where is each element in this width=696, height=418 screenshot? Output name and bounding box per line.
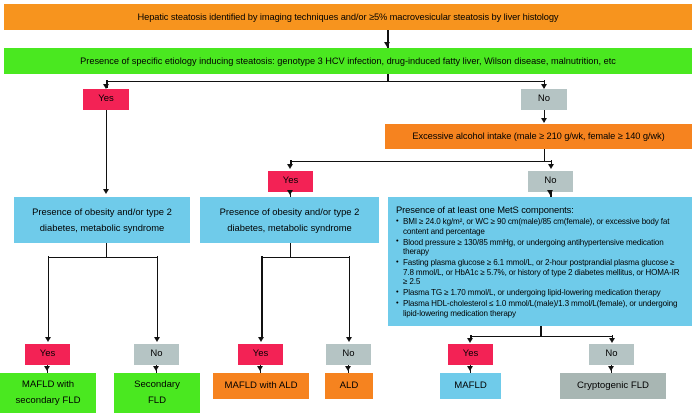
connector-line (106, 81, 544, 83)
node-label: Hepatic steatosis identified by imaging … (138, 12, 559, 23)
node-label-line1: Presence of obesity and/or type 2 (220, 204, 360, 220)
node-label: Excessive alcohol intake (male ≥ 210 g/w… (412, 131, 664, 142)
outcome-mafld: MAFLD (440, 373, 501, 399)
outcome-ald: ALD (325, 373, 373, 399)
connector-arrow (345, 366, 351, 371)
connector-line (290, 161, 552, 163)
decision-yes-obesity-left[interactable]: Yes (25, 344, 70, 365)
connector-arrow (547, 190, 553, 195)
outcome-label-line1: MAFLD with (22, 377, 74, 393)
decision-label: No (544, 176, 556, 187)
node-label-line1: Presence of obesity and/or type 2 (32, 204, 172, 220)
decision-label: Yes (283, 176, 299, 187)
node-obesity-criteria-mid: Presence of obesity and/or type 2 diabet… (200, 197, 379, 243)
mets-criteria-list: BMI ≥ 24.0 kg/m², or WC ≥ 90 cm(male)/85… (395, 217, 685, 318)
connector-arrow (467, 338, 473, 343)
outcome-label-line2: secondary FLD (15, 393, 80, 409)
connector-arrow (287, 164, 293, 169)
decision-no-etiology[interactable]: No (521, 89, 567, 110)
connector-arrow (548, 164, 554, 169)
decision-label: No (342, 349, 354, 360)
connector-arrow (45, 337, 51, 342)
decision-label: Yes (253, 349, 269, 360)
connector-arrow (153, 366, 159, 371)
node-label-line2: diabetes, metabolic syndrome (40, 220, 165, 236)
decision-label: Yes (463, 349, 479, 360)
connector-arrow (384, 42, 390, 47)
mets-criterion: Blood pressure ≥ 130/85 mmHg, or undergo… (395, 238, 685, 257)
decision-label: No (150, 349, 162, 360)
decision-yes-alcohol[interactable]: Yes (268, 171, 313, 192)
connector-line (106, 243, 108, 257)
outcome-cryptogenic-fld: Cryptogenic FLD (560, 373, 666, 399)
outcome-label-line1: MAFLD (454, 378, 487, 394)
decision-label: No (605, 349, 617, 360)
outcome-label-line1: MAFLD with ALD (224, 378, 297, 394)
connector-arrow (608, 366, 614, 371)
connector-line (290, 243, 292, 257)
decision-yes-obesity-mid[interactable]: Yes (238, 344, 283, 365)
connector-arrow (346, 337, 352, 342)
decision-yes-etiology[interactable]: Yes (83, 89, 129, 110)
decision-no-mets[interactable]: No (589, 344, 634, 365)
decision-no-obesity-mid[interactable]: No (326, 344, 371, 365)
connector-line (48, 257, 158, 259)
connector-arrow (287, 190, 293, 195)
connector-arrow (44, 366, 50, 371)
node-label-line2: diabetes, metabolic syndrome (227, 220, 352, 236)
decision-no-obesity-left[interactable]: No (134, 344, 179, 365)
mets-criterion: Plasma TG ≥ 1.70 mmol/L, or undergoing l… (395, 288, 685, 298)
mets-criterion: Plasma HDL-cholesterol ≤ 1.0 mmol/L(male… (395, 299, 685, 318)
connector-arrow (467, 366, 473, 371)
connector-line (261, 257, 350, 259)
connector-arrow (258, 337, 264, 342)
outcome-mafld-with-ald: MAFLD with ALD (213, 373, 309, 399)
outcome-label-line1: ALD (340, 378, 359, 394)
node-specific-etiology-banner: Presence of specific etiology inducing s… (4, 48, 692, 74)
connector-line (157, 256, 159, 338)
connector-line (48, 256, 50, 338)
connector-line (261, 256, 263, 338)
flowchart-canvas: Hepatic steatosis identified by imaging … (0, 0, 696, 418)
node-mets-components: Presence of at least one MetS components… (388, 197, 692, 326)
connector-line (349, 256, 351, 338)
decision-label: No (538, 94, 550, 105)
connector-arrow (154, 337, 160, 342)
outcome-label-line1: Cryptogenic FLD (577, 378, 649, 394)
connector-arrow (541, 118, 547, 123)
connector-line (540, 326, 542, 336)
decision-no-alcohol[interactable]: No (528, 171, 573, 192)
mets-criterion: BMI ≥ 24.0 kg/m², or WC ≥ 90 cm(male)/85… (395, 217, 685, 236)
connector-arrow (103, 189, 109, 194)
node-excessive-alcohol-banner: Excessive alcohol intake (male ≥ 210 g/w… (385, 124, 692, 149)
node-obesity-criteria-left: Presence of obesity and/or type 2 diabet… (14, 197, 190, 243)
connector-line (106, 110, 108, 192)
outcome-label-line1: Secondary (134, 377, 180, 393)
decision-yes-mets[interactable]: Yes (448, 344, 493, 365)
outcome-secondary-fld: Secondary FLD (114, 373, 200, 413)
decision-label: Yes (98, 94, 114, 105)
mets-heading: Presence of at least one MetS components… (396, 204, 685, 215)
outcome-mafld-with-secondary-fld: MAFLD with secondary FLD (0, 373, 96, 413)
connector-line (470, 336, 613, 338)
connector-arrow (257, 366, 263, 371)
decision-label: Yes (40, 349, 56, 360)
node-label: Presence of specific etiology inducing s… (80, 56, 616, 67)
outcome-label-line2: FLD (148, 393, 166, 409)
connector-arrow (609, 338, 615, 343)
node-hepatic-steatosis-banner: Hepatic steatosis identified by imaging … (4, 4, 692, 30)
mets-criterion: Fasting plasma glucose ≥ 6.1 mmol/L, or … (395, 258, 685, 287)
